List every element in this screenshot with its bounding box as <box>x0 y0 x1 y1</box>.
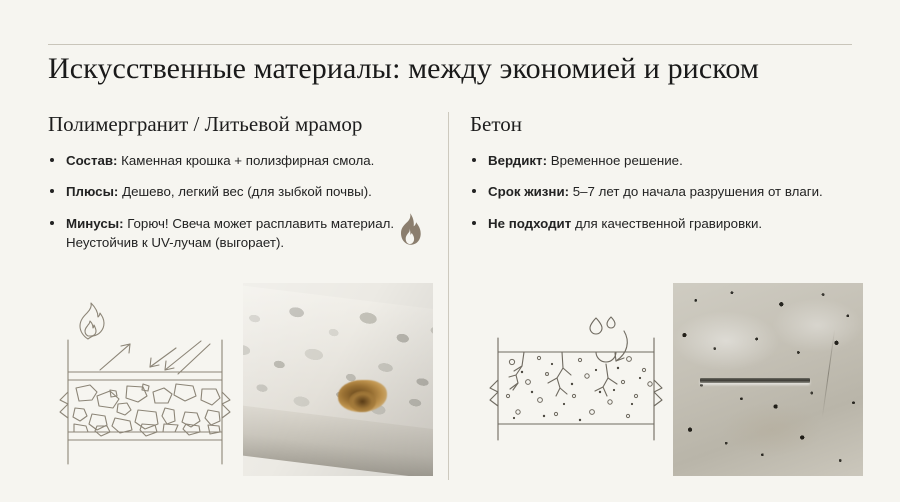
column-divider <box>448 112 449 480</box>
engraving-gouge <box>700 378 810 383</box>
bullet-label: Плюсы: <box>66 184 118 199</box>
bullet-label: Вердикт: <box>488 153 547 168</box>
list-item: Состав: Каменная крошка + полизфирная см… <box>48 151 433 170</box>
hairline-crack <box>822 330 835 418</box>
bullet-label: Минусы: <box>66 216 124 231</box>
list-item: Вердикт: Временное решение. <box>470 151 860 170</box>
bullet-text: для качественной гравировки. <box>571 216 762 231</box>
slide-root: Искусственные материалы: между экономией… <box>0 0 900 502</box>
list-item: Минусы: Горюч! Свеча может расплавить ма… <box>48 214 433 253</box>
bullet-text: Дешево, легкий вес (для зыбкой почвы). <box>118 184 371 199</box>
bullet-text: 5–7 лет до начала разрушения от влаги. <box>569 184 823 199</box>
column-heading-right: Бетон <box>470 112 860 137</box>
terrazzo-slab-burn-photo <box>243 283 433 476</box>
polymer-granite-cross-section-diagram <box>52 284 238 476</box>
header-divider <box>48 44 852 45</box>
page-title: Искусственные материалы: между экономией… <box>48 52 858 86</box>
list-item: Плюсы: Дешево, легкий вес (для зыбкой по… <box>48 182 433 201</box>
concrete-surface-engraving-photo <box>673 283 863 476</box>
list-item: Срок жизни: 5–7 лет до начала разрушения… <box>470 182 860 201</box>
bullet-label: Состав: <box>66 153 117 168</box>
bullet-list-right: Вердикт: Временное решение. Срок жизни: … <box>470 151 860 233</box>
bullet-text: Каменная крошка + полизфирная смола. <box>117 153 374 168</box>
bullet-label: Срок жизни: <box>488 184 569 199</box>
concrete-photo-surface <box>673 283 863 476</box>
terrazzo-photo-surface <box>243 283 433 476</box>
photo-shading <box>243 283 433 476</box>
column-concrete: Бетон Вердикт: Временное решение. Срок ж… <box>470 112 860 245</box>
list-item: Не подходит для качественной гравировки. <box>470 214 860 233</box>
column-polymer-granite: Полимергранит / Литьевой мрамор Состав: … <box>48 112 433 264</box>
concrete-moisture-damage-diagram <box>484 284 670 476</box>
column-heading-left: Полимергранит / Литьевой мрамор <box>48 112 433 137</box>
bullet-label: Не подходит <box>488 216 571 231</box>
bullet-text: Временное решение. <box>547 153 683 168</box>
flame-icon <box>396 212 422 246</box>
bullet-list-left: Состав: Каменная крошка + полизфирная см… <box>48 151 433 252</box>
